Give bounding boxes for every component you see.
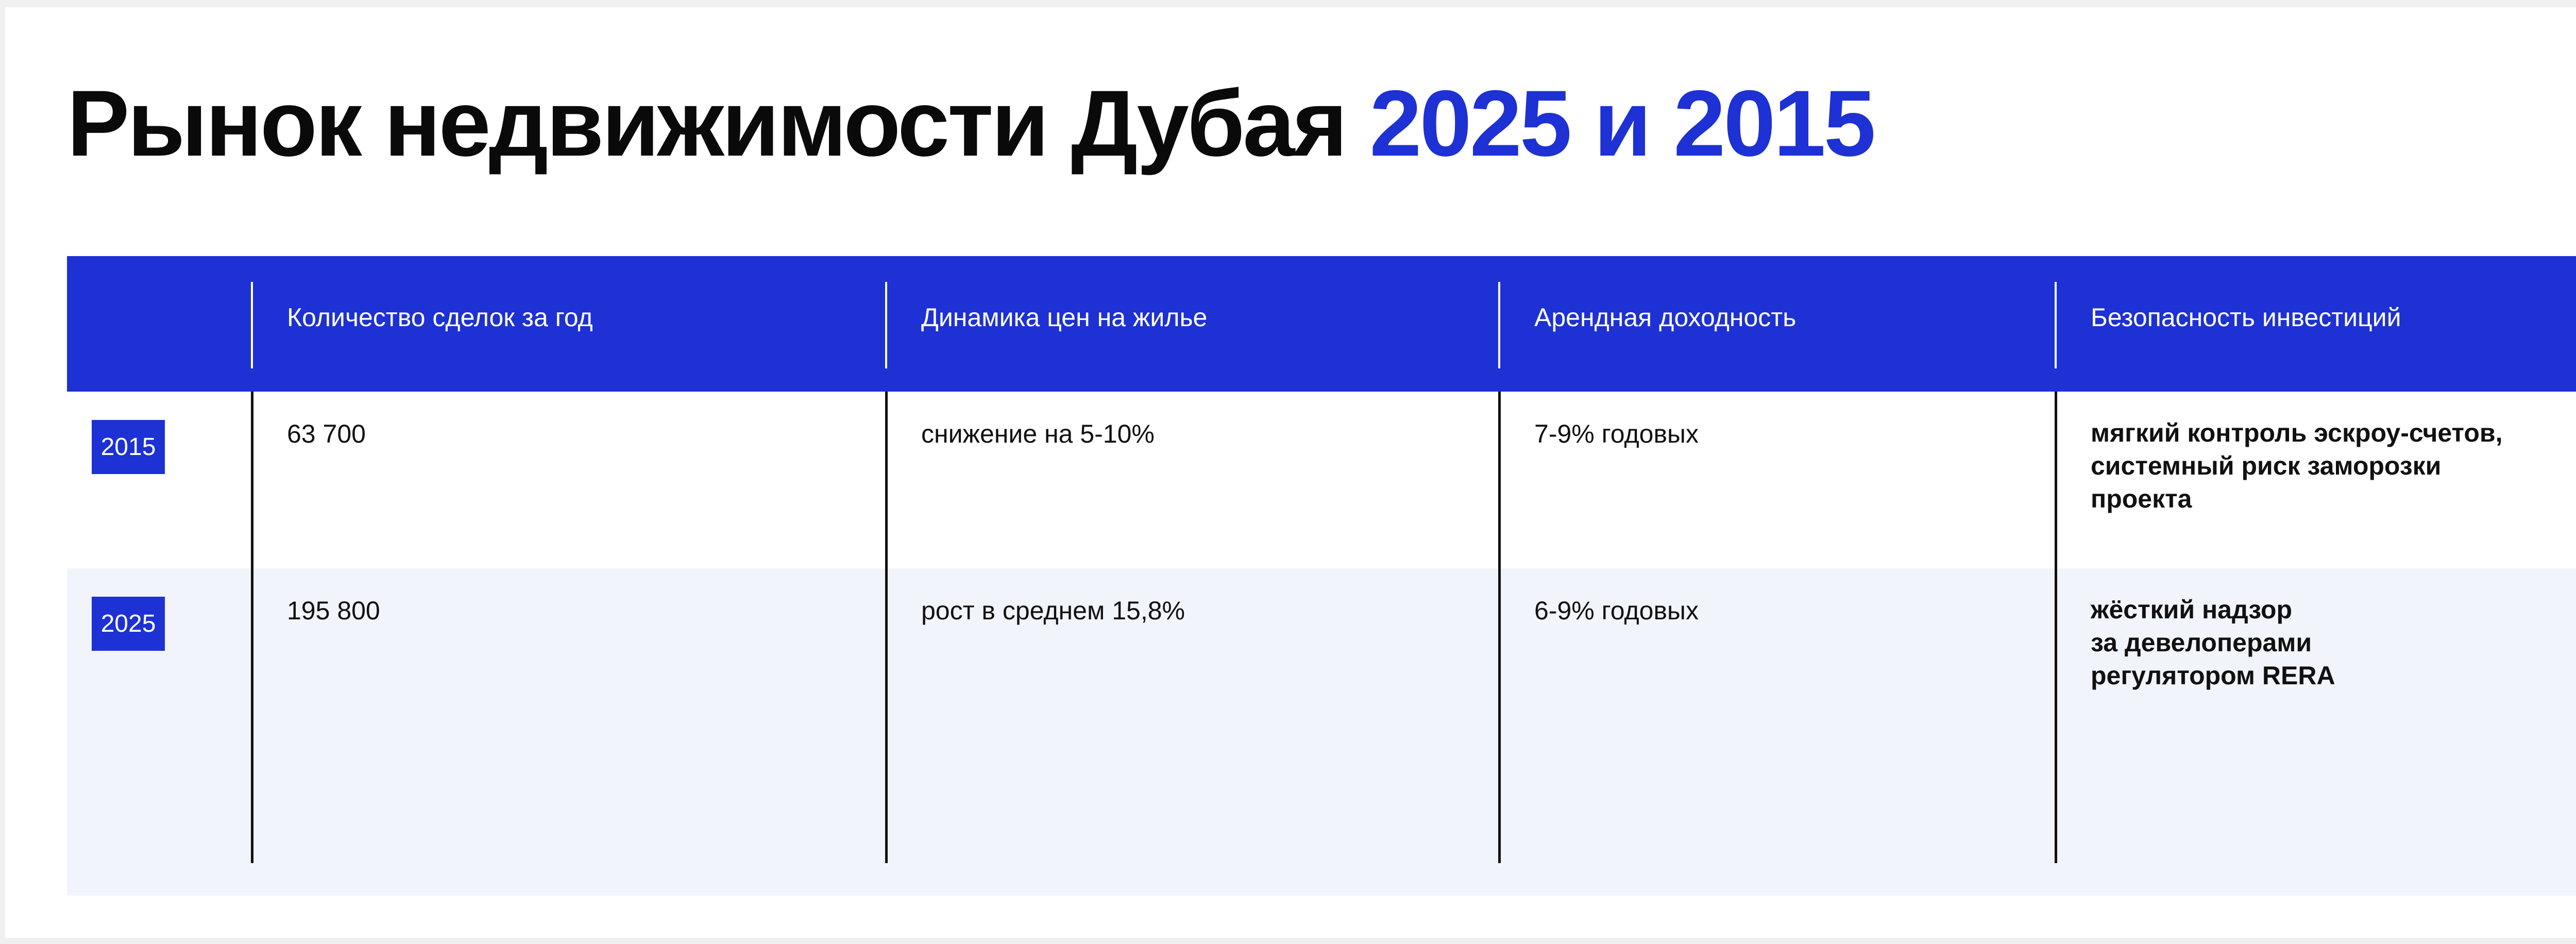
year-badge: 2015 [92, 420, 165, 474]
row-divider-1 [251, 392, 253, 568]
row-divider-3 [1498, 392, 1501, 568]
page-title-accent: 2025 и 2015 [1369, 71, 1874, 176]
page-title: Рынок недвижимости Дубая 2025 и 2015 [67, 64, 2576, 182]
header-divider-3 [1498, 282, 1500, 368]
row-divider-3 [1498, 568, 1501, 863]
cell-deals-value: 63 700 [287, 416, 366, 451]
row-divider-2 [885, 392, 888, 568]
column-header-investment-safety-label: Безопасность инвестиций [2091, 301, 2401, 333]
table-header-row: Количество сделок за год Динамика цен на… [67, 256, 2576, 392]
cell-investment-safety-line-2: системный риск заморозки [2091, 449, 2503, 482]
cell-investment-safety-value: мягкий контроль эскроу-счетов, системный… [2091, 416, 2503, 515]
cell-rental-yield-value: 7-9% годовых [1534, 416, 1699, 451]
cell-deals-value: 195 800 [287, 593, 380, 628]
header-divider-1 [251, 282, 253, 368]
cell-investment-safety-line-3: проекта [2091, 482, 2503, 515]
cell-investment-safety-line-2: за девелоперами [2091, 626, 2335, 659]
cell-rental-yield-value: 6-9% годовых [1534, 593, 1699, 628]
row-divider-1 [251, 568, 253, 863]
row-divider-4 [2055, 392, 2057, 568]
column-header-price-dynamics-label: Динамика цен на жилье [921, 301, 1207, 333]
column-header-deals-label: Количество сделок за год [287, 301, 593, 333]
cell-price-dynamics-value: снижение на 5-10% [921, 416, 1155, 451]
header-divider-4 [2055, 282, 2057, 368]
row-divider-4 [2055, 568, 2057, 863]
cell-investment-safety-line-3: регулятором RERA [2091, 659, 2335, 692]
header-divider-2 [885, 282, 887, 368]
table-row: 2025 195 800 рост в среднем 15,8% 6-9% г… [67, 568, 2576, 896]
row-divider-2 [885, 568, 888, 863]
cell-price-dynamics-value: рост в среднем 15,8% [921, 593, 1185, 628]
infographic-card: Рынок недвижимости Дубая 2025 и 2015 Кол… [5, 7, 2576, 938]
cell-investment-safety-line-1: мягкий контроль эскроу-счетов, [2091, 416, 2503, 449]
year-badge: 2025 [92, 597, 165, 651]
comparison-table: Количество сделок за год Динамика цен на… [67, 256, 2576, 896]
page-title-main: Рынок недвижимости Дубая [67, 71, 1369, 176]
cell-investment-safety-line-1: жёсткий надзор [2091, 593, 2335, 626]
table-row: 2015 63 700 снижение на 5-10% 7-9% годов… [67, 392, 2576, 568]
cell-investment-safety-value: жёсткий надзор за девелоперами регулятор… [2091, 593, 2335, 692]
column-header-rental-yield-label: Арендная доходность [1534, 301, 1796, 333]
